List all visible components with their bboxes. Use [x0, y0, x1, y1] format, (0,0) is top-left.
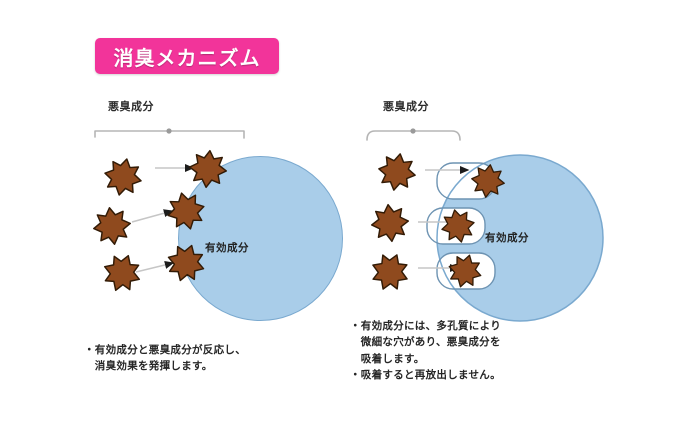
right-free-molecule-1 — [376, 151, 419, 194]
right-circle-label: 有効成分 — [485, 230, 529, 245]
left-free-molecule-1 — [101, 155, 145, 199]
left-free-molecule-3 — [98, 249, 145, 296]
left-group-label: 悪臭成分 — [108, 98, 154, 114]
left-arrow-2 — [132, 211, 172, 222]
right-caption: ・有効成分には、多孔質により 微細な穴があり、悪臭成分を 吸着します。 ・吸着す… — [350, 318, 600, 383]
deodorizing-mechanism-diagram: 消臭メカニズム 悪臭成分 悪臭成分 有効成分 — [0, 0, 700, 435]
left-free-molecule-2 — [91, 205, 133, 247]
left-circle-label: 有効成分 — [205, 240, 249, 255]
left-arrow-3 — [136, 263, 173, 272]
page-title: 消臭メカニズム — [114, 42, 261, 71]
right-free-molecule-3 — [366, 248, 414, 296]
right-free-molecule-2 — [370, 203, 410, 243]
right-group-label: 悪臭成分 — [383, 98, 429, 114]
left-caption: ・有効成分と悪臭成分が反応し、 消臭効果を発揮します。 — [84, 342, 314, 375]
left-bracket — [95, 128, 244, 138]
right-bracket — [367, 128, 460, 140]
page-title-badge: 消臭メカニズム — [95, 38, 279, 74]
